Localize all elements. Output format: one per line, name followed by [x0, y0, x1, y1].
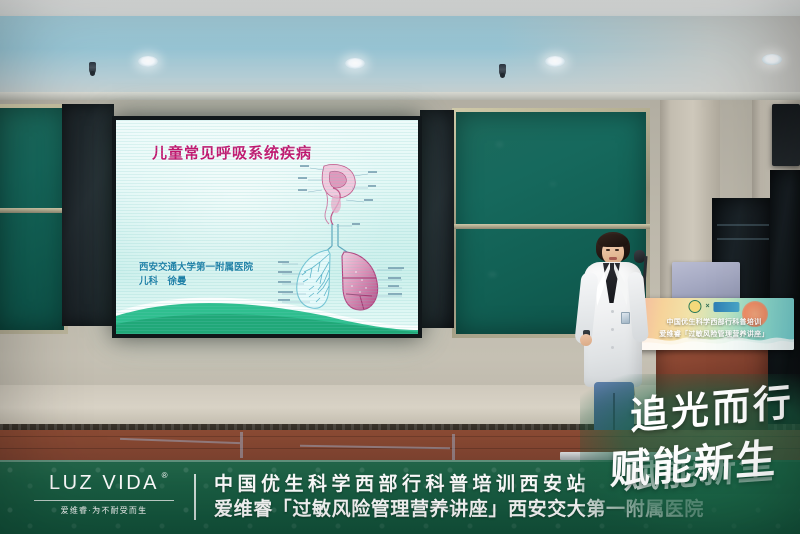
speaker-hair-fringe: [598, 234, 628, 247]
sign-logo-row: ×: [688, 300, 739, 313]
bottom-banner: LUZ VIDA ® 爱维睿·为不耐受而生 中国优生科学西部行科普培训西安站 爱…: [0, 460, 800, 534]
organization-emblem-icon: [688, 300, 701, 313]
ceiling-panel: [0, 16, 800, 98]
speaker-id-badge: [621, 312, 630, 324]
brand-tagline: 爱维睿·为不耐受而生: [30, 505, 178, 516]
banner-headline-line1: 中国优生科学西部行科普培训西安站: [214, 473, 704, 497]
sprinkler-head-1: [89, 62, 96, 74]
wall-mounted-display: [772, 104, 800, 166]
brand-word-text: LUZ VIDA: [49, 472, 159, 494]
wall-dark-panel-left: [62, 104, 114, 326]
presentation-slide: 儿童常见呼吸系统疾病: [116, 120, 418, 334]
podium-sign-line1: 中国优生科学西部行科普培训: [634, 317, 794, 327]
downlight-1: [138, 56, 158, 67]
downlight-2: [345, 58, 365, 69]
wall-dark-panel-mid: [420, 110, 454, 328]
podium-banner-sign: × 中国优生科学西部行科普培训 爱维睿「过敏风险管理营养讲座」: [634, 298, 794, 350]
banner-top-rule: [0, 460, 800, 462]
speaker-hand: [580, 334, 592, 346]
brand-logo: LUZ VIDA ® 爱维睿·为不耐受而生: [30, 472, 178, 516]
av-equipment-cabinet-side: [770, 170, 800, 424]
photo-scene: 儿童常见呼吸系统疾病: [0, 0, 800, 534]
partner-logo-icon: [714, 302, 740, 312]
stage-platform-edge: [560, 452, 700, 460]
banner-headline: 中国优生科学西部行科普培训西安站 爱维睿「过敏风险管理营养讲座」西安交大第一附属…: [214, 473, 704, 522]
registered-trademark-icon: ®: [162, 471, 170, 480]
speaker-person: [578, 232, 648, 462]
sprinkler-head-2: [499, 64, 506, 76]
screen-scanlines: [116, 120, 418, 334]
banner-vertical-divider: [194, 474, 196, 520]
chalkboard-left: [0, 104, 68, 334]
banner-headline-line2: 爱维睿「过敏风险管理营养讲座」西安交大第一附属医院: [214, 497, 704, 523]
brand-divider-rule: [34, 500, 174, 501]
logo-divider-x: ×: [705, 303, 709, 310]
brand-wordmark: LUZ VIDA ®: [49, 472, 159, 495]
podium-sign-line2: 爱维睿「过敏风险管理营养讲座」: [634, 329, 794, 339]
downlight-3: [545, 56, 565, 67]
projection-screen[interactable]: 儿童常见呼吸系统疾病: [112, 116, 422, 338]
downlight-4: [762, 54, 782, 65]
